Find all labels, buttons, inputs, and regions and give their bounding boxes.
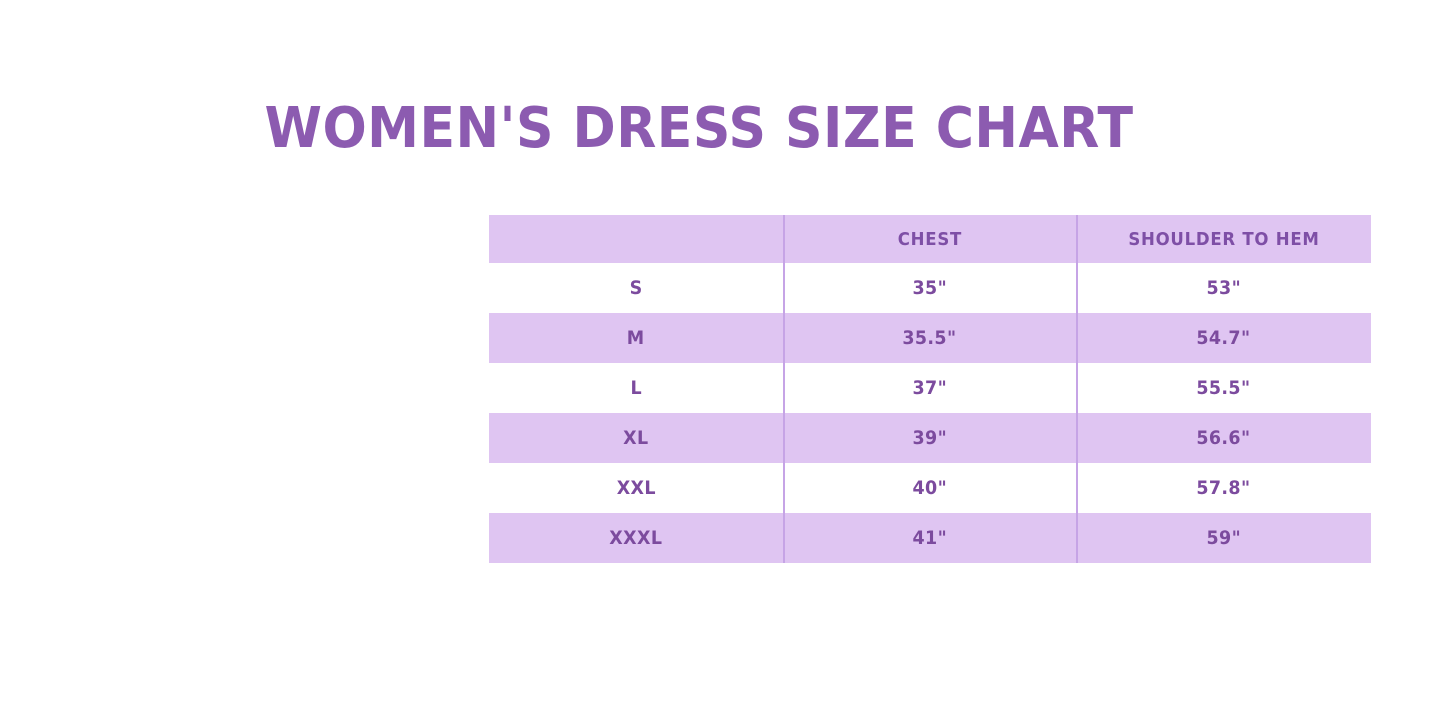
cell-shoulder-to-hem-value: 53" [1206, 277, 1241, 299]
cell-chest-value: 37" [912, 377, 947, 399]
size-chart-table: CHEST SHOULDER TO HEM S 35" 53" [489, 215, 1371, 563]
cell-size-value: S [630, 277, 643, 299]
cell-shoulder-to-hem-value: 56.6" [1196, 427, 1250, 449]
cell-size: M [489, 313, 783, 363]
cell-size-value: M [627, 327, 645, 349]
cell-shoulder-to-hem: 53" [1076, 263, 1371, 313]
size-chart-table-container: CHEST SHOULDER TO HEM S 35" 53" [489, 215, 1371, 563]
cell-size: XXL [489, 463, 783, 513]
cell-shoulder-to-hem: 59" [1076, 513, 1371, 563]
cell-size: XL [489, 413, 783, 463]
cell-shoulder-to-hem: 56.6" [1076, 413, 1371, 463]
cell-shoulder-to-hem: 54.7" [1076, 313, 1371, 363]
cell-chest-value: 40" [912, 477, 947, 499]
cell-chest: 39" [783, 413, 1076, 463]
table-body: S 35" 53" M 35.5" [489, 263, 1371, 563]
table-row: S 35" 53" [489, 263, 1371, 313]
cell-chest: 35.5" [783, 313, 1076, 363]
table-row: M 35.5" 54.7" [489, 313, 1371, 363]
cell-shoulder-to-hem: 57.8" [1076, 463, 1371, 513]
column-header-shoulder-to-hem-label: SHOULDER TO HEM [1128, 229, 1319, 250]
cell-chest: 37" [783, 363, 1076, 413]
column-header-chest: CHEST [783, 215, 1076, 263]
table-row: XXXL 41" 59" [489, 513, 1371, 563]
cell-size: L [489, 363, 783, 413]
cell-chest-value: 41" [912, 527, 947, 549]
table-header-row: CHEST SHOULDER TO HEM [489, 215, 1371, 263]
cell-chest-value: 35" [912, 277, 947, 299]
column-header-chest-label: CHEST [897, 229, 961, 250]
cell-shoulder-to-hem-value: 55.5" [1196, 377, 1250, 399]
page-title: WOMEN'S DRESS SIZE CHART [5, 94, 1393, 164]
cell-size-value: XXXL [609, 527, 662, 549]
table-row: L 37" 55.5" [489, 363, 1371, 413]
table-row: XL 39" 56.6" [489, 413, 1371, 463]
table-row: XXL 40" 57.8" [489, 463, 1371, 513]
cell-shoulder-to-hem-value: 57.8" [1196, 477, 1250, 499]
cell-chest: 40" [783, 463, 1076, 513]
cell-size-value: XL [623, 427, 648, 449]
table-header: CHEST SHOULDER TO HEM [489, 215, 1371, 263]
cell-shoulder-to-hem-value: 54.7" [1196, 327, 1250, 349]
column-header-shoulder-to-hem: SHOULDER TO HEM [1076, 215, 1371, 263]
cell-size-value: L [630, 377, 642, 399]
cell-chest-value: 39" [912, 427, 947, 449]
cell-size-value: XXL [616, 477, 655, 499]
cell-size: S [489, 263, 783, 313]
cell-chest-value: 35.5" [902, 327, 956, 349]
size-chart-page: WOMEN'S DRESS SIZE CHART CHEST SHOULDER … [0, 0, 1445, 723]
cell-shoulder-to-hem: 55.5" [1076, 363, 1371, 413]
cell-chest: 41" [783, 513, 1076, 563]
cell-chest: 35" [783, 263, 1076, 313]
cell-size: XXXL [489, 513, 783, 563]
cell-shoulder-to-hem-value: 59" [1206, 527, 1241, 549]
column-header-size [489, 215, 783, 263]
